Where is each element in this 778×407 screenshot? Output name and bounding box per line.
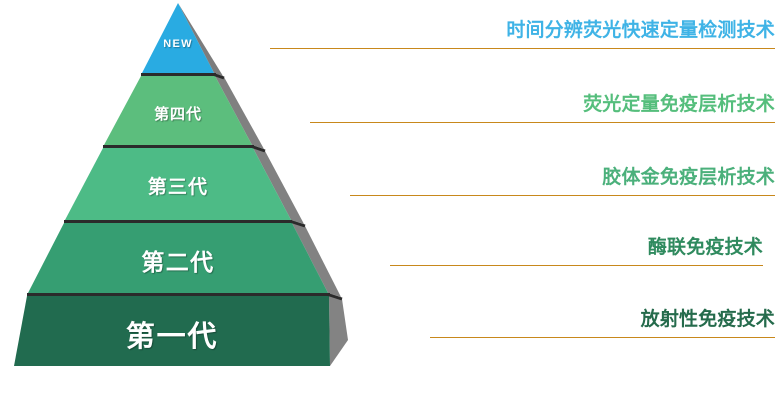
label-rule-generation-4 [310,122,775,123]
label-row-generation-2: 酶联免疫技术 [390,235,763,266]
tier-3-face [65,148,291,220]
label-row-generation-3: 胶体金免疫层析技术 [350,165,775,196]
label-rule-generation-1 [430,337,775,338]
label-text-generation-4: 荧光定量免疫层析技术 [310,92,775,118]
tier-5-face [142,3,214,73]
label-text-generation-1: 放射性免疫技术 [430,307,775,333]
label-rule-generation-2 [390,265,763,266]
label-text-generation-2: 酶联免疫技术 [390,235,763,261]
tier-4-face [104,76,252,145]
slide-canvas: NEW 第四代 第三代 第二代 第一代 时间分辨荧光快速定量检测技术 荧光定量免… [0,0,778,402]
label-rule-generation-3 [350,195,775,196]
label-row-generation-4: 荧光定量免疫层析技术 [310,92,775,123]
label-text-generation-3: 胶体金免疫层析技术 [350,165,775,191]
label-row-generation-5: 时间分辨荧光快速定量检测技术 [270,18,775,49]
label-row-generation-1: 放射性免疫技术 [430,307,775,338]
label-text-generation-5: 时间分辨荧光快速定量检测技术 [270,18,775,44]
technology-label-list: 时间分辨荧光快速定量检测技术 荧光定量免疫层析技术 胶体金免疫层析技术 酶联免疫… [260,0,778,402]
label-rule-generation-5 [270,48,775,49]
